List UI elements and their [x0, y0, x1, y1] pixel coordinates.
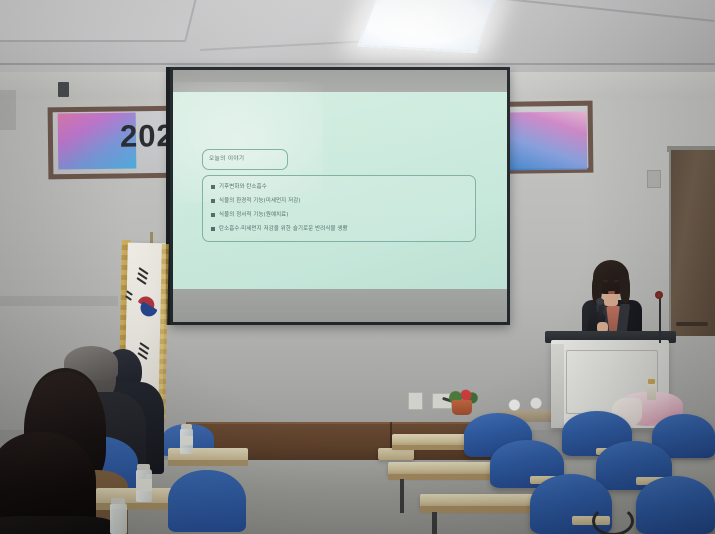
slide-bullet: 탄소흡수·미세먼지 저감을 위한 슬기로운 반려식물 생활: [211, 224, 348, 232]
ceiling-light-icon: [357, 0, 497, 53]
wall-plate: [647, 170, 661, 188]
bottle-cap: [181, 424, 192, 429]
water-bottle: [110, 503, 127, 534]
desk-edge: [388, 474, 506, 480]
ceiling-wall-seam: [0, 63, 715, 65]
audience-body: [0, 516, 112, 534]
speaker-hair-side: [620, 274, 630, 304]
speaker-eye: [614, 280, 619, 282]
wall-cabinet[interactable]: [669, 150, 715, 336]
flower-pot: [452, 400, 472, 415]
wall-speaker-icon: [58, 82, 69, 97]
podium-side-panel: [551, 344, 564, 428]
microphone-head-icon: [596, 298, 604, 305]
bottle-cap: [648, 379, 655, 384]
slide-bullet-text: 식물의 정서적 기능(원예치료): [219, 212, 289, 218]
wall-trim: [0, 296, 118, 306]
slide-bullet-text: 기후변화와 탄소흡수: [219, 184, 267, 190]
water-bottle: [647, 382, 656, 400]
speaker-mouth: [608, 291, 615, 294]
slide-bullet: 기후변화와 탄소흡수: [211, 182, 267, 190]
bottle-cap: [137, 464, 150, 470]
slide-bullet: 식물의 환경적 기능(미세먼지 저감): [211, 196, 301, 204]
bottle-cap: [111, 498, 125, 504]
bottle-label: [136, 479, 152, 491]
wall-outlet-icon[interactable]: [408, 392, 423, 410]
desk-leg: [400, 479, 404, 513]
ceiling-tile: [0, 0, 198, 42]
lecture-hall-photo: 202 회 오늘의 이야기 기후변화와 탄소흡수 식물의 환경적 기능(미세먼지…: [0, 0, 715, 534]
bullet-marker-icon: [211, 199, 215, 203]
bottle-label: [180, 436, 193, 445]
chair[interactable]: [636, 476, 715, 534]
cable-loop: [592, 506, 634, 534]
mic-stand-head-icon: [655, 291, 663, 299]
desk-edge: [168, 460, 248, 466]
mic-stand: [659, 295, 661, 343]
slide-bullet: 식물의 정서적 기능(원예치료): [211, 210, 289, 218]
slide-title-text: 오늘의 이야기: [209, 154, 281, 164]
wall-shadow: [0, 90, 16, 130]
desk-leg: [432, 512, 437, 534]
projection-screen: 오늘의 이야기 기후변화와 탄소흡수 식물의 환경적 기능(미세먼지 저감) 식…: [170, 67, 510, 325]
chair[interactable]: [168, 470, 246, 532]
slide-bullet-text: 식물의 환경적 기능(미세먼지 저감): [219, 198, 301, 204]
screen-surface: 오늘의 이야기 기후변화와 탄소흡수 식물의 환경적 기능(미세먼지 저감) 식…: [173, 70, 507, 322]
bullet-marker-icon: [211, 227, 215, 231]
screen-bottom-border: [173, 289, 507, 322]
slide-bullet-text: 탄소흡수·미세먼지 저감을 위한 슬기로운 반려식물 생활: [219, 226, 348, 232]
desk-edge: [420, 506, 544, 513]
bullet-marker-icon: [211, 185, 215, 189]
cabinet-handle[interactable]: [676, 322, 708, 326]
bullet-marker-icon: [211, 213, 215, 217]
speaker-eye: [603, 280, 608, 282]
